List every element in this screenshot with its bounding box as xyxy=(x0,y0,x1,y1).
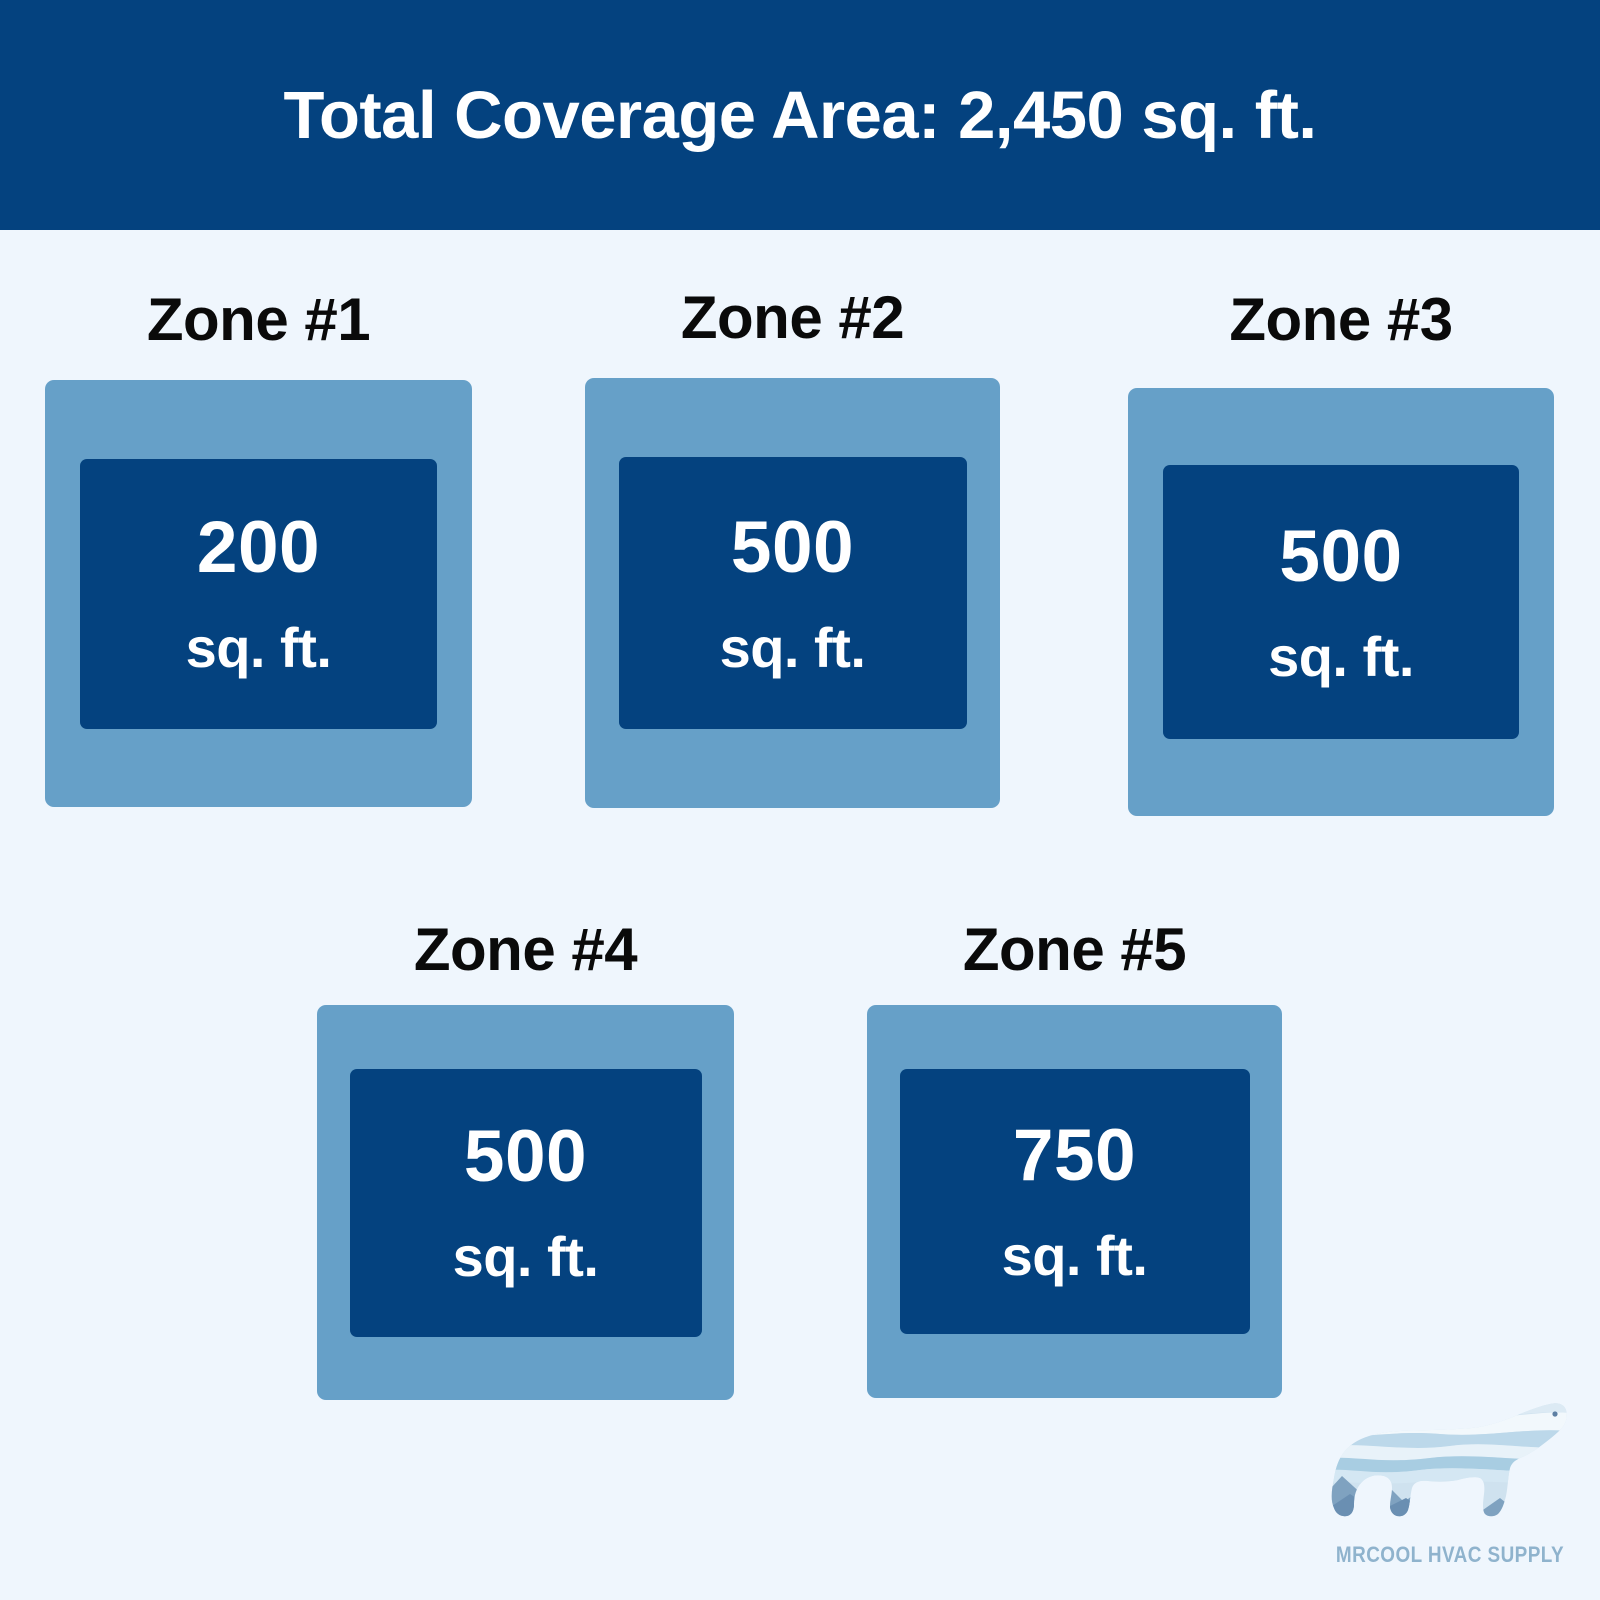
zone-value-3: 500 xyxy=(1279,520,1402,593)
zone-card-4[interactable]: Zone #4 500 sq. ft. xyxy=(317,920,734,1400)
zone-unit-1: sq. ft. xyxy=(186,620,332,676)
brand-logo: MRCOOL HVAC SUPPLY xyxy=(1310,1390,1590,1590)
zone-outer-box-5: 750 sq. ft. xyxy=(867,1005,1282,1398)
page-title: Total Coverage Area: 2,450 sq. ft. xyxy=(283,82,1316,149)
zone-value-2: 500 xyxy=(731,511,854,584)
zone-inner-box-5: 750 sq. ft. xyxy=(900,1069,1250,1334)
zone-inner-box-4: 500 sq. ft. xyxy=(350,1069,702,1337)
zone-outer-box-2: 500 sq. ft. xyxy=(585,378,1000,808)
zone-outer-box-3: 500 sq. ft. xyxy=(1128,388,1554,816)
zone-value-5: 750 xyxy=(1013,1119,1136,1192)
bear-eye-icon xyxy=(1552,1411,1557,1416)
zone-outer-box-1: 200 sq. ft. xyxy=(45,380,472,807)
zone-card-5[interactable]: Zone #5 750 sq. ft. xyxy=(867,920,1282,1398)
zone-unit-2: sq. ft. xyxy=(720,620,866,676)
zone-card-3[interactable]: Zone #3 500 sq. ft. xyxy=(1128,290,1554,816)
zone-value-1: 200 xyxy=(197,511,320,584)
zone-label-3: Zone #3 xyxy=(1229,290,1452,350)
header-band: Total Coverage Area: 2,450 sq. ft. xyxy=(0,0,1600,230)
zone-label-2: Zone #2 xyxy=(681,288,904,348)
zone-unit-4: sq. ft. xyxy=(453,1229,599,1285)
zone-inner-box-2: 500 sq. ft. xyxy=(619,457,967,729)
zone-label-4: Zone #4 xyxy=(414,920,637,980)
zone-value-4: 500 xyxy=(464,1120,587,1193)
polar-bear-icon xyxy=(1320,1390,1580,1540)
zone-card-2[interactable]: Zone #2 500 sq. ft. xyxy=(585,288,1000,808)
logo-wordmark: MRCOOL HVAC SUPPLY xyxy=(1330,1542,1571,1568)
zone-inner-box-1: 200 sq. ft. xyxy=(80,459,437,729)
zone-inner-box-3: 500 sq. ft. xyxy=(1163,465,1519,739)
zone-unit-3: sq. ft. xyxy=(1268,629,1414,685)
zone-outer-box-4: 500 sq. ft. xyxy=(317,1005,734,1400)
zone-label-1: Zone #1 xyxy=(147,290,370,350)
zone-unit-5: sq. ft. xyxy=(1002,1228,1148,1284)
zone-card-1[interactable]: Zone #1 200 sq. ft. xyxy=(45,290,472,807)
zone-label-5: Zone #5 xyxy=(963,920,1186,980)
